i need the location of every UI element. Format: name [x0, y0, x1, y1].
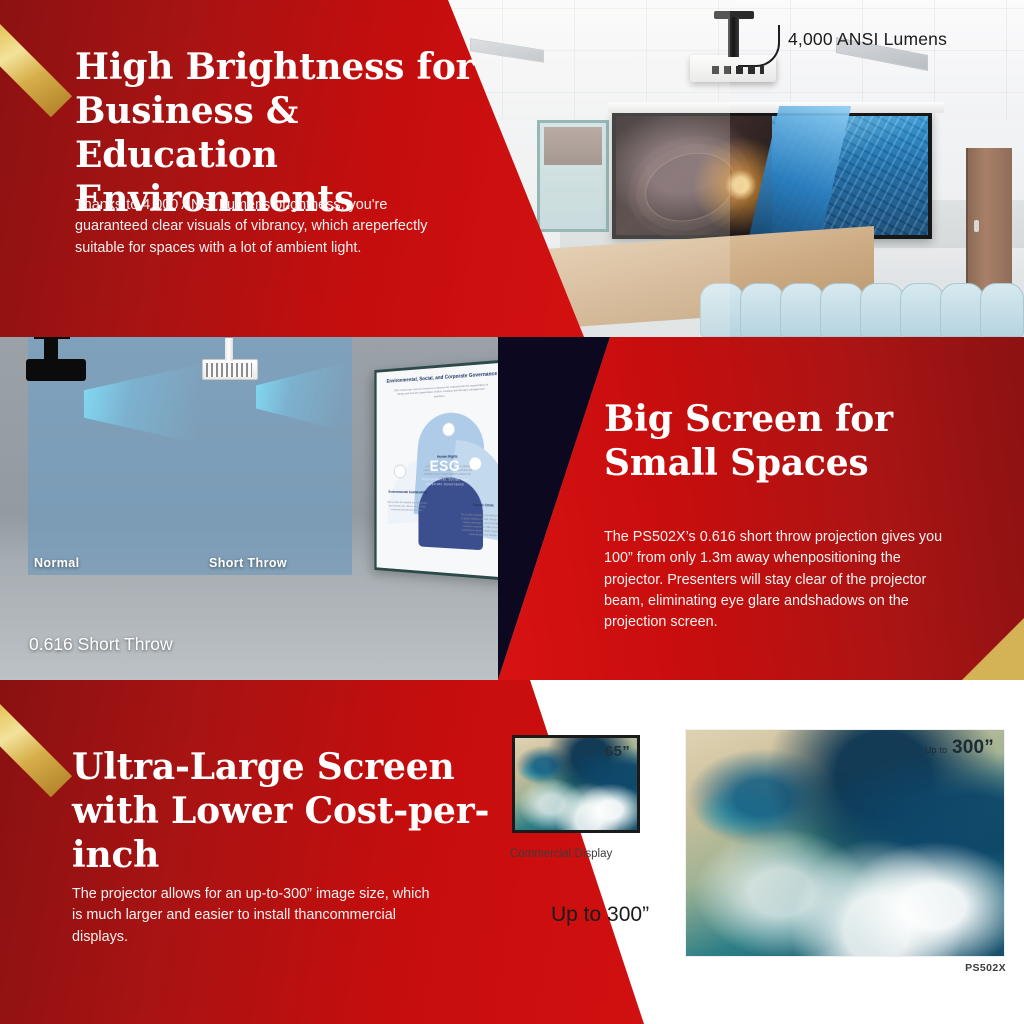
size-badge-300: Up to 300” — [925, 737, 994, 759]
screen-casing — [608, 102, 944, 113]
compare-label-normal: Normal — [34, 556, 79, 570]
panel-high-brightness: High Brightness for Business & Education… — [0, 0, 1024, 337]
projector-ports — [712, 66, 764, 74]
projector-normal — [26, 359, 86, 381]
projector-short-throw — [202, 359, 258, 380]
esg-presentation-screen: Environmental, Social, and Corporate Gov… — [374, 359, 512, 581]
slide-subtitle: ESG criteria are used by investors to as… — [392, 382, 490, 401]
commercial-display-caption: Commercial Display — [510, 848, 612, 860]
panel2-body-text: The PS502X’s 0.616 short throw projectio… — [604, 527, 956, 634]
size-badge-65: 65” — [605, 743, 630, 760]
badge-prefix: Up to — [925, 745, 948, 755]
gold-corner-triangle — [962, 618, 1024, 680]
projector-image-300: Up to 300” — [686, 730, 1004, 956]
projector-cable — [738, 25, 780, 67]
panel3-body-text: The projector allows for an up-to-300” i… — [72, 884, 442, 948]
badge-value: 300” — [952, 737, 994, 758]
mount-pole — [44, 337, 58, 361]
glass-door — [537, 120, 609, 232]
projector-model-caption: PS502X — [965, 962, 1006, 974]
panel2-title: Big Screen for Small Spaces — [604, 398, 1004, 486]
panel3-title: Ultra-Large Screen with Lower Cost-per-i… — [72, 746, 492, 878]
boardroom-chairs — [694, 267, 1024, 337]
screen-roller — [374, 359, 512, 370]
mount-pole — [225, 338, 233, 361]
esg-center-word: ESG Environmental, Social, and Corporate… — [413, 458, 477, 487]
up-to-300-callout: Up to 300” — [551, 903, 649, 927]
segment-text-environmental: Here's where the valuable and measurable… — [384, 501, 430, 513]
lumens-callout-label: 4,000 ANSI Lumens — [788, 29, 947, 50]
compare-label-short-throw: Short Throw — [209, 556, 287, 570]
panel-body-text: Thanks to 4,000 ANSI Lumens brightness, … — [75, 195, 445, 259]
projector-grille — [206, 363, 252, 377]
short-throw-callout-label: 0.616 Short Throw — [29, 634, 173, 655]
ceiling-projector — [690, 55, 776, 82]
infographic-page: High Brightness for Business & Education… — [0, 0, 1024, 1024]
screen-image-building — [772, 116, 928, 235]
projection-screen — [612, 112, 932, 239]
leaf-icon — [394, 464, 406, 478]
esg-center-caption: Environmental, Social, and Corporate Gov… — [413, 477, 477, 487]
commercial-display-image: 65” — [512, 735, 640, 833]
esg-acronym: ESG — [430, 458, 461, 474]
screen-image-space — [616, 116, 772, 235]
